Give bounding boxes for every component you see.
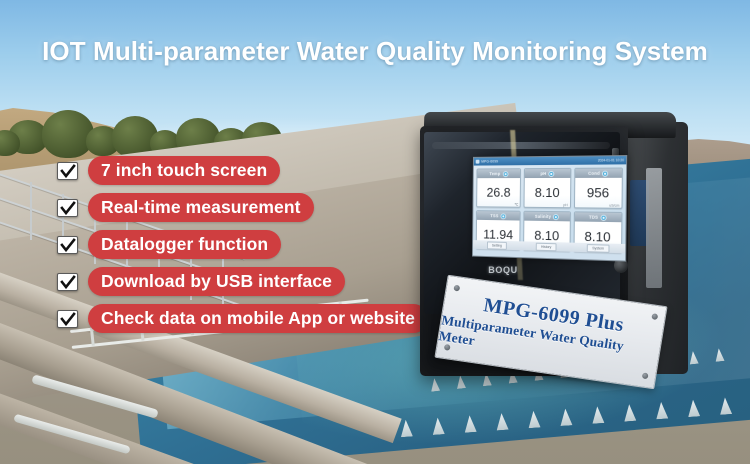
instrument-enclosure: MPG-6099 2024-01-01 10:20 Temp 26.8 ℃ <box>418 108 690 383</box>
list-item[interactable]: Real-time measurement <box>57 189 428 226</box>
hmi-button-history[interactable]: History <box>536 242 556 251</box>
gear-icon[interactable] <box>602 170 608 176</box>
hmi-title-label: MPG-6099 <box>481 160 498 164</box>
checkmark-icon[interactable] <box>57 199 78 217</box>
hmi-touchscreen[interactable]: MPG-6099 2024-01-01 10:20 Temp 26.8 ℃ <box>472 155 627 262</box>
brand-logo: BOQU <box>480 264 526 275</box>
checkmark-icon[interactable] <box>57 236 78 254</box>
list-item[interactable]: Datalogger function <box>57 226 428 263</box>
gear-icon[interactable] <box>548 170 554 176</box>
checkmark-icon[interactable] <box>57 273 78 291</box>
checkmark-icon[interactable] <box>57 310 78 328</box>
hmi-body: Temp 26.8 ℃ pH <box>473 164 626 253</box>
tile-name: TDS <box>589 215 598 220</box>
measurement-tile-ph[interactable]: pH 8.10 pH <box>524 168 571 208</box>
glass-highlight <box>432 142 610 149</box>
tile-header: Temp <box>477 169 520 178</box>
tile-unit: pH <box>563 203 567 207</box>
tile-header: pH <box>525 169 570 178</box>
tile-name: Temp <box>489 171 500 176</box>
tile-value-area: 8.10 pH <box>525 178 570 207</box>
hmi-button-system[interactable]: System <box>587 244 609 253</box>
enclosure-grey-trim <box>646 168 662 288</box>
gear-icon[interactable] <box>600 214 606 220</box>
gear-icon[interactable] <box>500 213 506 219</box>
tile-name: TSS <box>490 213 498 218</box>
list-item[interactable]: 7 inch touch screen <box>57 152 428 189</box>
tile-header: Cond <box>575 169 622 178</box>
list-item[interactable]: Download by USB interface <box>57 263 428 300</box>
measurement-tile-cond[interactable]: Cond 956 uS/cm <box>574 167 623 208</box>
tile-value: 26.8 <box>487 185 511 200</box>
hmi-clock: 2024-01-01 10:20 <box>598 158 624 162</box>
tile-name: pH <box>540 171 546 176</box>
feature-label: Datalogger function <box>88 230 281 259</box>
tile-name: Salinity <box>535 214 551 219</box>
tile-name: Cond <box>588 171 600 176</box>
tile-value-area: 956 uS/cm <box>575 178 622 208</box>
hmi-button-setting[interactable]: Setting <box>487 241 507 249</box>
app-icon <box>476 160 480 164</box>
tile-value: 956 <box>587 185 610 200</box>
feature-label: Download by USB interface <box>88 267 345 296</box>
list-item[interactable]: Check data on mobile App or website <box>57 300 428 337</box>
page-title: IOT Multi-parameter Water Quality Monito… <box>0 36 750 67</box>
measurement-tile-temp[interactable]: Temp 26.8 ℃ <box>476 168 521 208</box>
banner-stage: IOT Multi-parameter Water Quality Monito… <box>0 0 750 464</box>
gear-icon[interactable] <box>502 171 508 177</box>
tile-value: 8.10 <box>535 185 560 200</box>
gear-icon[interactable] <box>553 214 559 220</box>
feature-label: Real-time measurement <box>88 193 314 222</box>
feature-label: Check data on mobile App or website <box>88 304 428 333</box>
feature-list: 7 inch touch screen Real-time measuremen… <box>57 152 428 337</box>
checkmark-icon[interactable] <box>57 162 78 180</box>
tile-unit: ℃ <box>514 203 518 207</box>
tile-unit: uS/cm <box>609 204 619 208</box>
tile-value-area: 26.8 ℃ <box>477 178 520 207</box>
feature-label: 7 inch touch screen <box>88 156 280 185</box>
